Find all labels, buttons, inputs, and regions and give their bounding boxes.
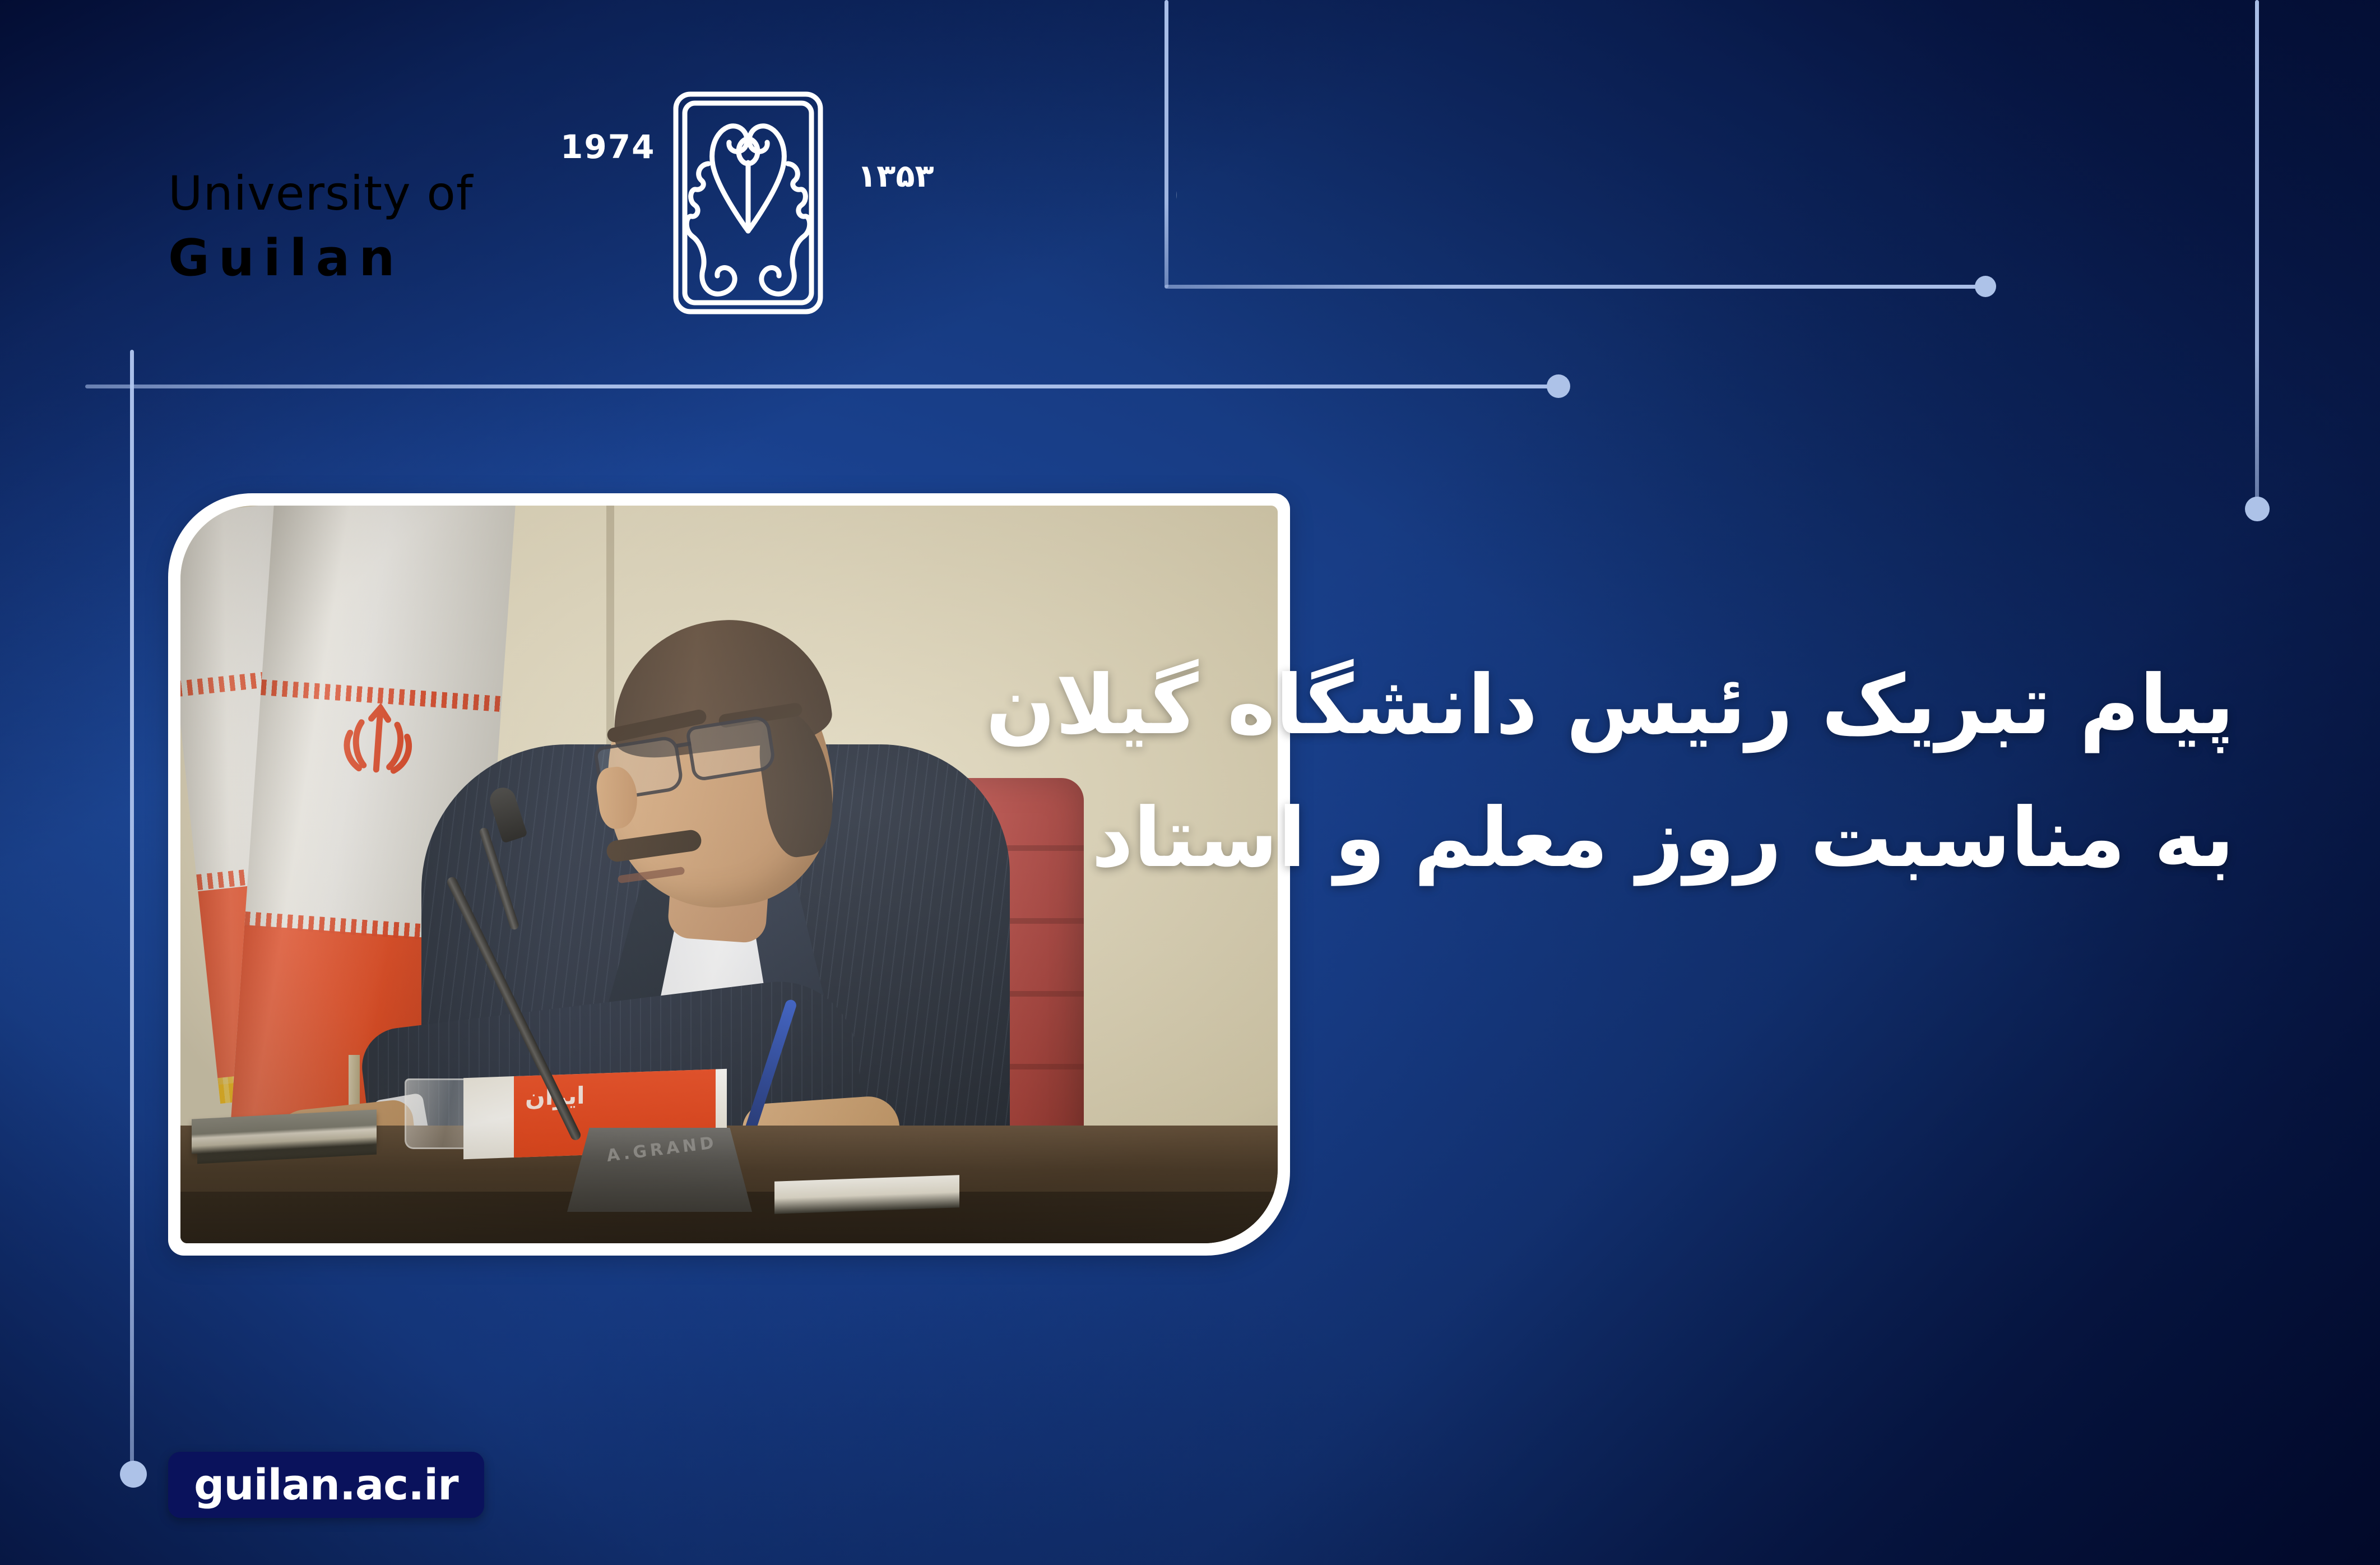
logo-name-en-line2: Guilan xyxy=(168,229,403,288)
university-logo[interactable]: 1974 University of Guilan ۱۳۵۳ xyxy=(168,140,1177,325)
website-url-text: guilan.ac.ir xyxy=(194,1464,458,1506)
decorative-line-vertical-left xyxy=(130,350,134,1476)
decorative-line-vertical-right xyxy=(2255,0,2259,500)
headline-line-2: به مناسبت روز معلم و استاد xyxy=(1214,772,2234,905)
decorative-dot-top-right xyxy=(1975,276,1996,297)
website-url-badge[interactable]: guilan.ac.ir xyxy=(168,1452,484,1518)
decorative-line-horizontal-mid xyxy=(85,385,1559,388)
decorative-dot-bottom-left xyxy=(120,1461,147,1488)
logo-name-en-line1: University of xyxy=(168,166,473,221)
headline: پیام تبریک رئیس دانشگاه گیلان به مناسبت … xyxy=(1214,639,2234,904)
decorative-dot-right xyxy=(2245,497,2270,521)
logo-name-fa-text: دانشگاه گیلان xyxy=(1166,81,1177,225)
decorative-line-horizontal-top-right xyxy=(1165,285,1987,289)
logo-name-fa: دانشگاه گیلان xyxy=(829,78,1177,269)
headline-line-1: پیام تبریک رئیس دانشگاه گیلان xyxy=(1214,639,2234,772)
guilan-university-emblem-icon xyxy=(650,91,846,315)
decorative-dot-mid xyxy=(1547,374,1570,398)
logo-year-en: 1974 xyxy=(560,128,655,166)
banner-canvas: 1974 University of Guilan ۱۳۵۳ xyxy=(0,0,2380,1565)
